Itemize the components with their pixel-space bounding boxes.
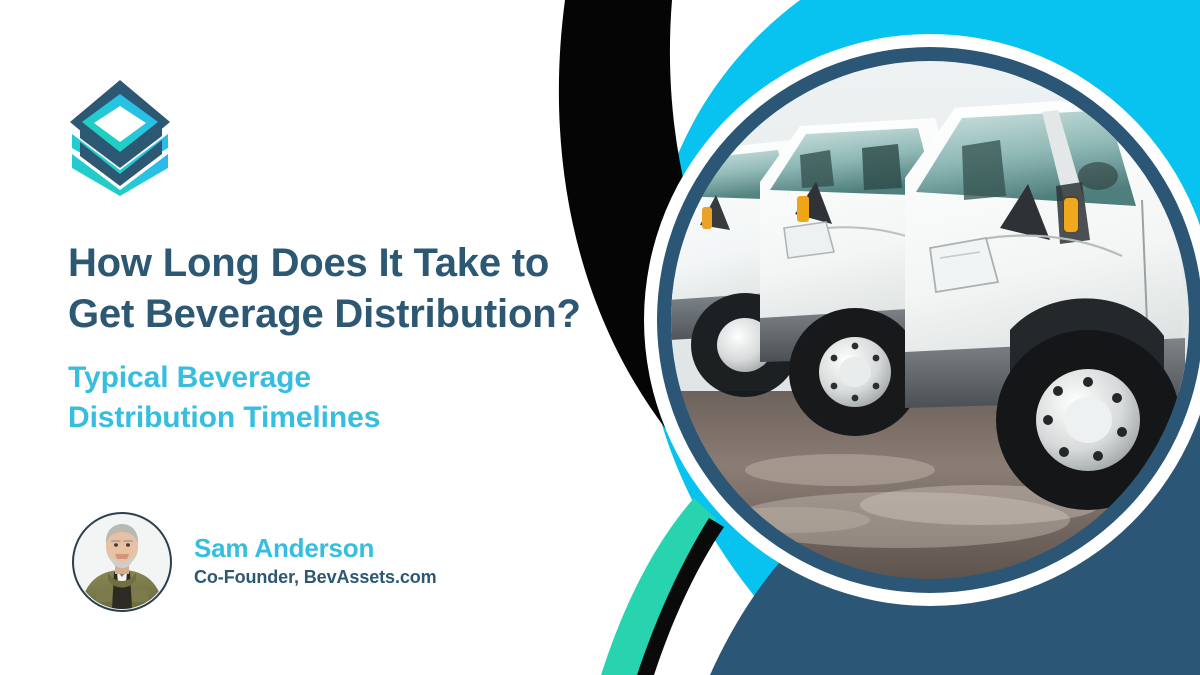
delivery-van-fleet-photo xyxy=(668,61,1189,581)
headline-line-1: How Long Does It Take to xyxy=(68,241,549,285)
layered-diamond-logo-icon xyxy=(66,78,174,196)
content-column: How Long Does It Take to Get Beverage Di… xyxy=(0,0,660,675)
headline-line-2: Get Beverage Distribution? xyxy=(68,292,581,336)
page-title: How Long Does It Take to Get Beverage Di… xyxy=(68,238,648,340)
author-portrait-avatar xyxy=(74,514,170,610)
author-block: Sam Anderson Co-Founder, BevAssets.com xyxy=(72,512,437,612)
hero-navy-ring xyxy=(657,47,1200,593)
hero-outer-ring xyxy=(644,34,1200,606)
subhead-line-1: Typical Beverage xyxy=(68,361,311,394)
brand-logo[interactable] xyxy=(66,78,174,196)
poster-canvas: How Long Does It Take to Get Beverage Di… xyxy=(0,0,1200,675)
author-text: Sam Anderson Co-Founder, BevAssets.com xyxy=(194,533,437,591)
author-role: Co-Founder, BevAssets.com xyxy=(194,566,437,589)
subhead-line-2: Distribution Timelines xyxy=(68,401,380,434)
page-subtitle: Typical Beverage Distribution Timelines xyxy=(68,358,588,438)
author-name: Sam Anderson xyxy=(194,533,437,564)
navy-background-panel xyxy=(710,300,1200,675)
cyan-background-panel xyxy=(646,0,1200,675)
avatar xyxy=(72,512,172,612)
